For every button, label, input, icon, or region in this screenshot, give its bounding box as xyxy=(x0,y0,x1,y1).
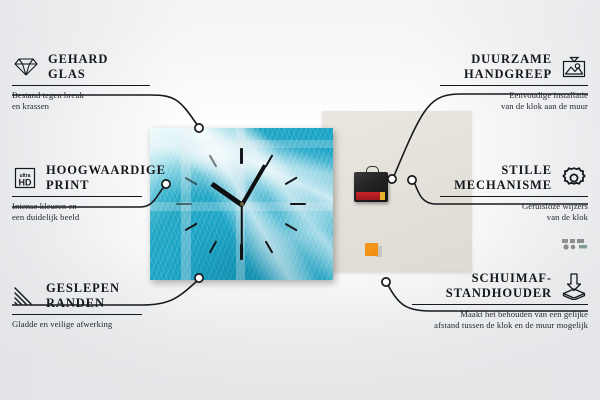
glass-clock-face xyxy=(150,128,333,280)
callout-title-line1: SCHUIMAF- xyxy=(446,271,552,286)
callout-hoogwaardige-print[interactable]: ultra HD HOOGWAARDIGE PRINT Intense kleu… xyxy=(12,163,162,224)
callout-header: GESLEPEN RANDEN xyxy=(12,281,152,311)
tick-3 xyxy=(290,203,306,206)
svg-text:HD: HD xyxy=(19,177,32,187)
callout-title-line1: HOOGWAARDIGE xyxy=(46,163,166,178)
callout-rule xyxy=(12,314,142,315)
battery-plus-terminal xyxy=(380,192,385,200)
tick-9 xyxy=(176,203,192,206)
callout-header: ultra HD HOOGWAARDIGE PRINT xyxy=(12,163,162,193)
callout-sub-line2: afstand tussen de klok en de muur mogeli… xyxy=(412,320,588,331)
callout-sub-line2: van de klok aan de muur xyxy=(440,101,588,112)
callout-geslepen-randen[interactable]: GESLEPEN RANDEN Gladde en veilige afwerk… xyxy=(12,281,152,330)
callout-title-line1: DUURZAME xyxy=(464,52,552,67)
callout-sub-line2: en krassen xyxy=(12,101,150,112)
infographic-canvas: GEHARD GLAS Bestand tegen breuk en krass… xyxy=(0,0,600,400)
gear-icon xyxy=(560,165,588,191)
callout-title-line2: HANDGREEP xyxy=(464,67,552,82)
callout-rule xyxy=(440,196,588,197)
tick-12 xyxy=(240,148,242,164)
callout-title-line1: GEHARD xyxy=(48,52,108,67)
callout-sub-line1: Bestand tegen breuk xyxy=(12,90,150,101)
callout-title-line1: STILLE xyxy=(454,163,552,178)
callout-sub-line1: Gladde en veilige afwerking xyxy=(12,319,152,330)
callout-title-line2: MECHANISME xyxy=(454,178,552,193)
callout-header: STILLE MECHANISME xyxy=(440,163,588,193)
clock-hands-hub xyxy=(240,202,244,206)
foam-spacer xyxy=(365,243,378,256)
callout-header: SCHUIMAF- STANDHOUDER xyxy=(412,271,588,301)
callout-gehard-glas[interactable]: GEHARD GLAS Bestand tegen breuk en krass… xyxy=(12,52,150,113)
beveled-edge-icon xyxy=(12,285,38,307)
callout-sub-line2: van de klok xyxy=(440,212,588,223)
callout-sub-line2: een duidelijk beeld xyxy=(12,212,162,223)
product-photo xyxy=(150,110,398,282)
callout-rule xyxy=(12,85,150,86)
callout-title-line2: STANDHOUDER xyxy=(446,286,552,301)
callout-schuimafstandhouder[interactable]: SCHUIMAF- STANDHOUDER Maakt het behouden… xyxy=(412,271,588,332)
callout-sub-line1: Eenvoudige installatie xyxy=(440,90,588,101)
callout-title-line2: PRINT xyxy=(46,178,166,193)
mechanism-detail xyxy=(561,238,589,251)
callout-sub-line1: Intense kleuren en xyxy=(12,201,162,212)
callout-rule xyxy=(412,304,588,305)
callout-rule xyxy=(440,85,588,86)
callout-duurzame-handgreep[interactable]: DUURZAME HANDGREEP Eenvoudige installati… xyxy=(440,52,588,113)
picture-frame-icon xyxy=(560,55,588,79)
callout-header: GEHARD GLAS xyxy=(12,52,150,82)
ultra-hd-icon: ultra HD xyxy=(12,166,38,190)
callout-sub-line1: Geruisloze wijzers xyxy=(440,201,588,212)
callout-title-line2: GLAS xyxy=(48,67,108,82)
callout-title-line1: GESLEPEN xyxy=(46,281,120,296)
callout-stille-mechanisme[interactable]: STILLE MECHANISME Geruisloze wijzers van… xyxy=(440,163,588,224)
callout-sub-line1: Maakt het behouden van een gelijke xyxy=(412,309,588,320)
second-hand xyxy=(241,204,243,259)
spacer-arrow-icon xyxy=(560,272,588,300)
diamond-icon xyxy=(12,56,40,78)
callout-title-line2: RANDEN xyxy=(46,296,120,311)
callout-header: DUURZAME HANDGREEP xyxy=(440,52,588,82)
callout-rule xyxy=(12,196,142,197)
